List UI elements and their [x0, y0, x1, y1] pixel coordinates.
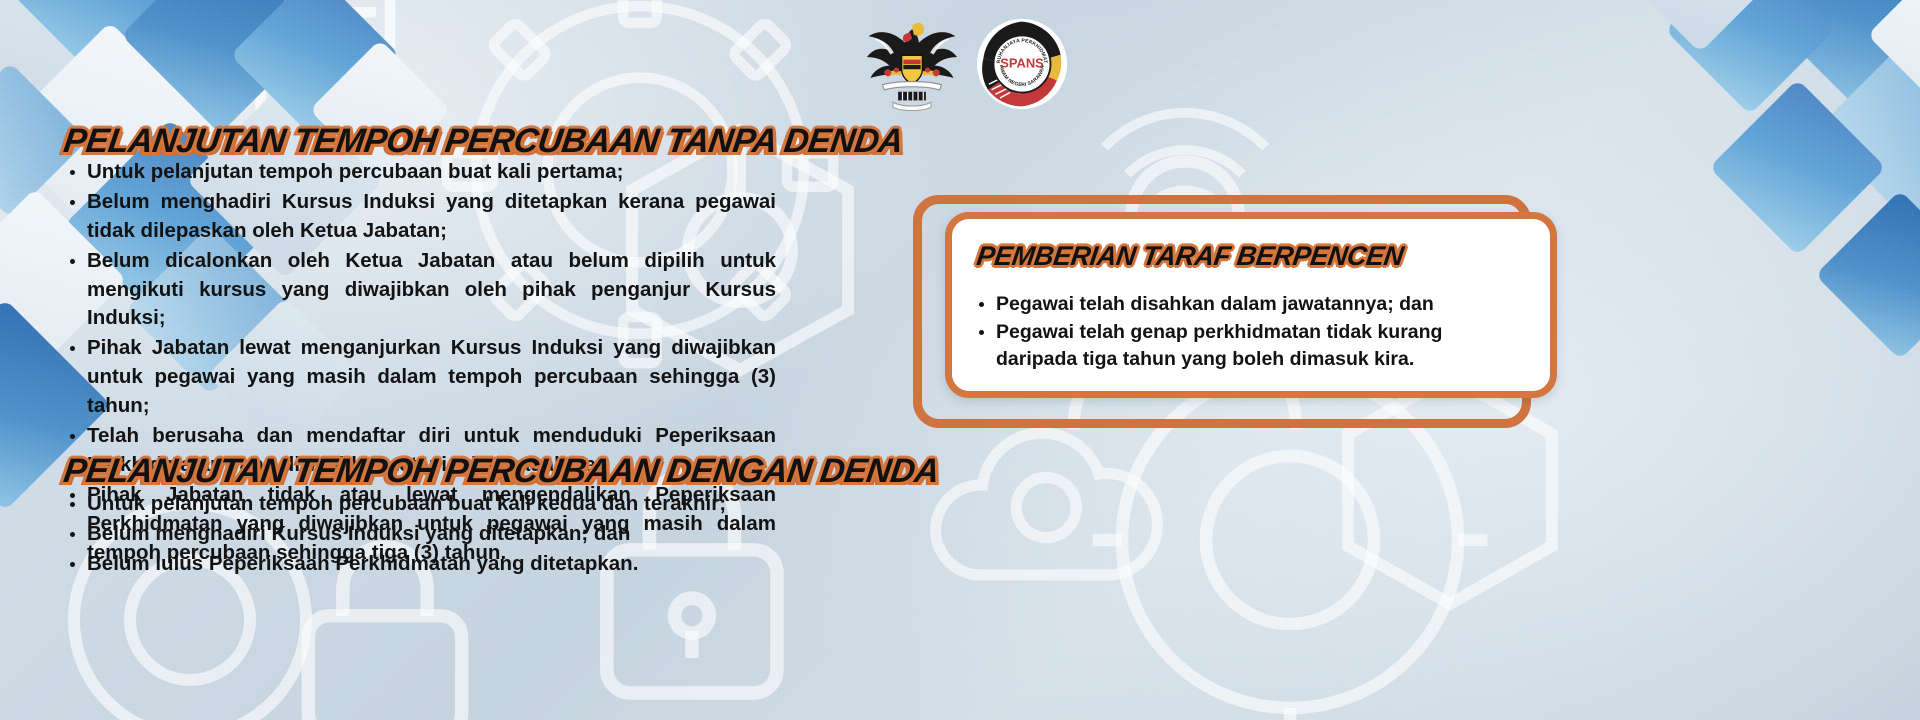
section-heading-dengan-denda: PELANJUTAN TEMPOH PERCUBAAN DENGAN DENDA [61, 452, 941, 491]
list-item: Pihak Jabatan lewat menganjurkan Kursus … [64, 334, 776, 421]
poster-canvas: SURUHANJAYA PERKHIDMATAN AWAM NEGERI SAR… [0, 0, 1920, 720]
card-bullet-list: Pegawai telah disahkan dalam jawatannya;… [974, 291, 1522, 374]
sarawak-coat-of-arms-icon [860, 12, 964, 116]
cloud-icon [900, 400, 1200, 630]
pemberian-taraf-berpencen-card: PEMBERIAN TARAF BERPENCEN Pegawai telah … [945, 212, 1557, 398]
svg-text:SPANS: SPANS [1000, 56, 1044, 71]
list-item: Untuk pelanjutan tempoh percubaan buat k… [64, 158, 776, 187]
list-item: Pegawai telah disahkan dalam jawatannya;… [974, 291, 1522, 318]
list-item: Belum menghadiri Kursus Induksi yang dit… [64, 520, 764, 549]
section-heading-tanpa-denda: PELANJUTAN TEMPOH PERCUBAAN TANPA DENDA [61, 122, 905, 161]
list-item: Belum lulus Peperiksaan Perkhidmatan yan… [64, 550, 764, 579]
list-item: Belum menghadiri Kursus Induksi yang dit… [64, 188, 776, 246]
bullet-list-dengan-denda: Untuk pelanjutan tempoh percubaan buat k… [64, 490, 764, 580]
list-item: Belum dicalonkan oleh Ketua Jabatan atau… [64, 247, 776, 334]
logo-bar: SURUHANJAYA PERKHIDMATAN AWAM NEGERI SAR… [860, 8, 1090, 120]
list-item: Untuk pelanjutan tempoh percubaan buat k… [64, 490, 764, 519]
spans-logo-icon: SURUHANJAYA PERKHIDMATAN AWAM NEGERI SAR… [976, 18, 1068, 110]
card-heading: PEMBERIAN TARAF BERPENCEN [975, 241, 1405, 272]
list-item: Pegawai telah genap perkhidmatan tidak k… [974, 319, 1522, 373]
